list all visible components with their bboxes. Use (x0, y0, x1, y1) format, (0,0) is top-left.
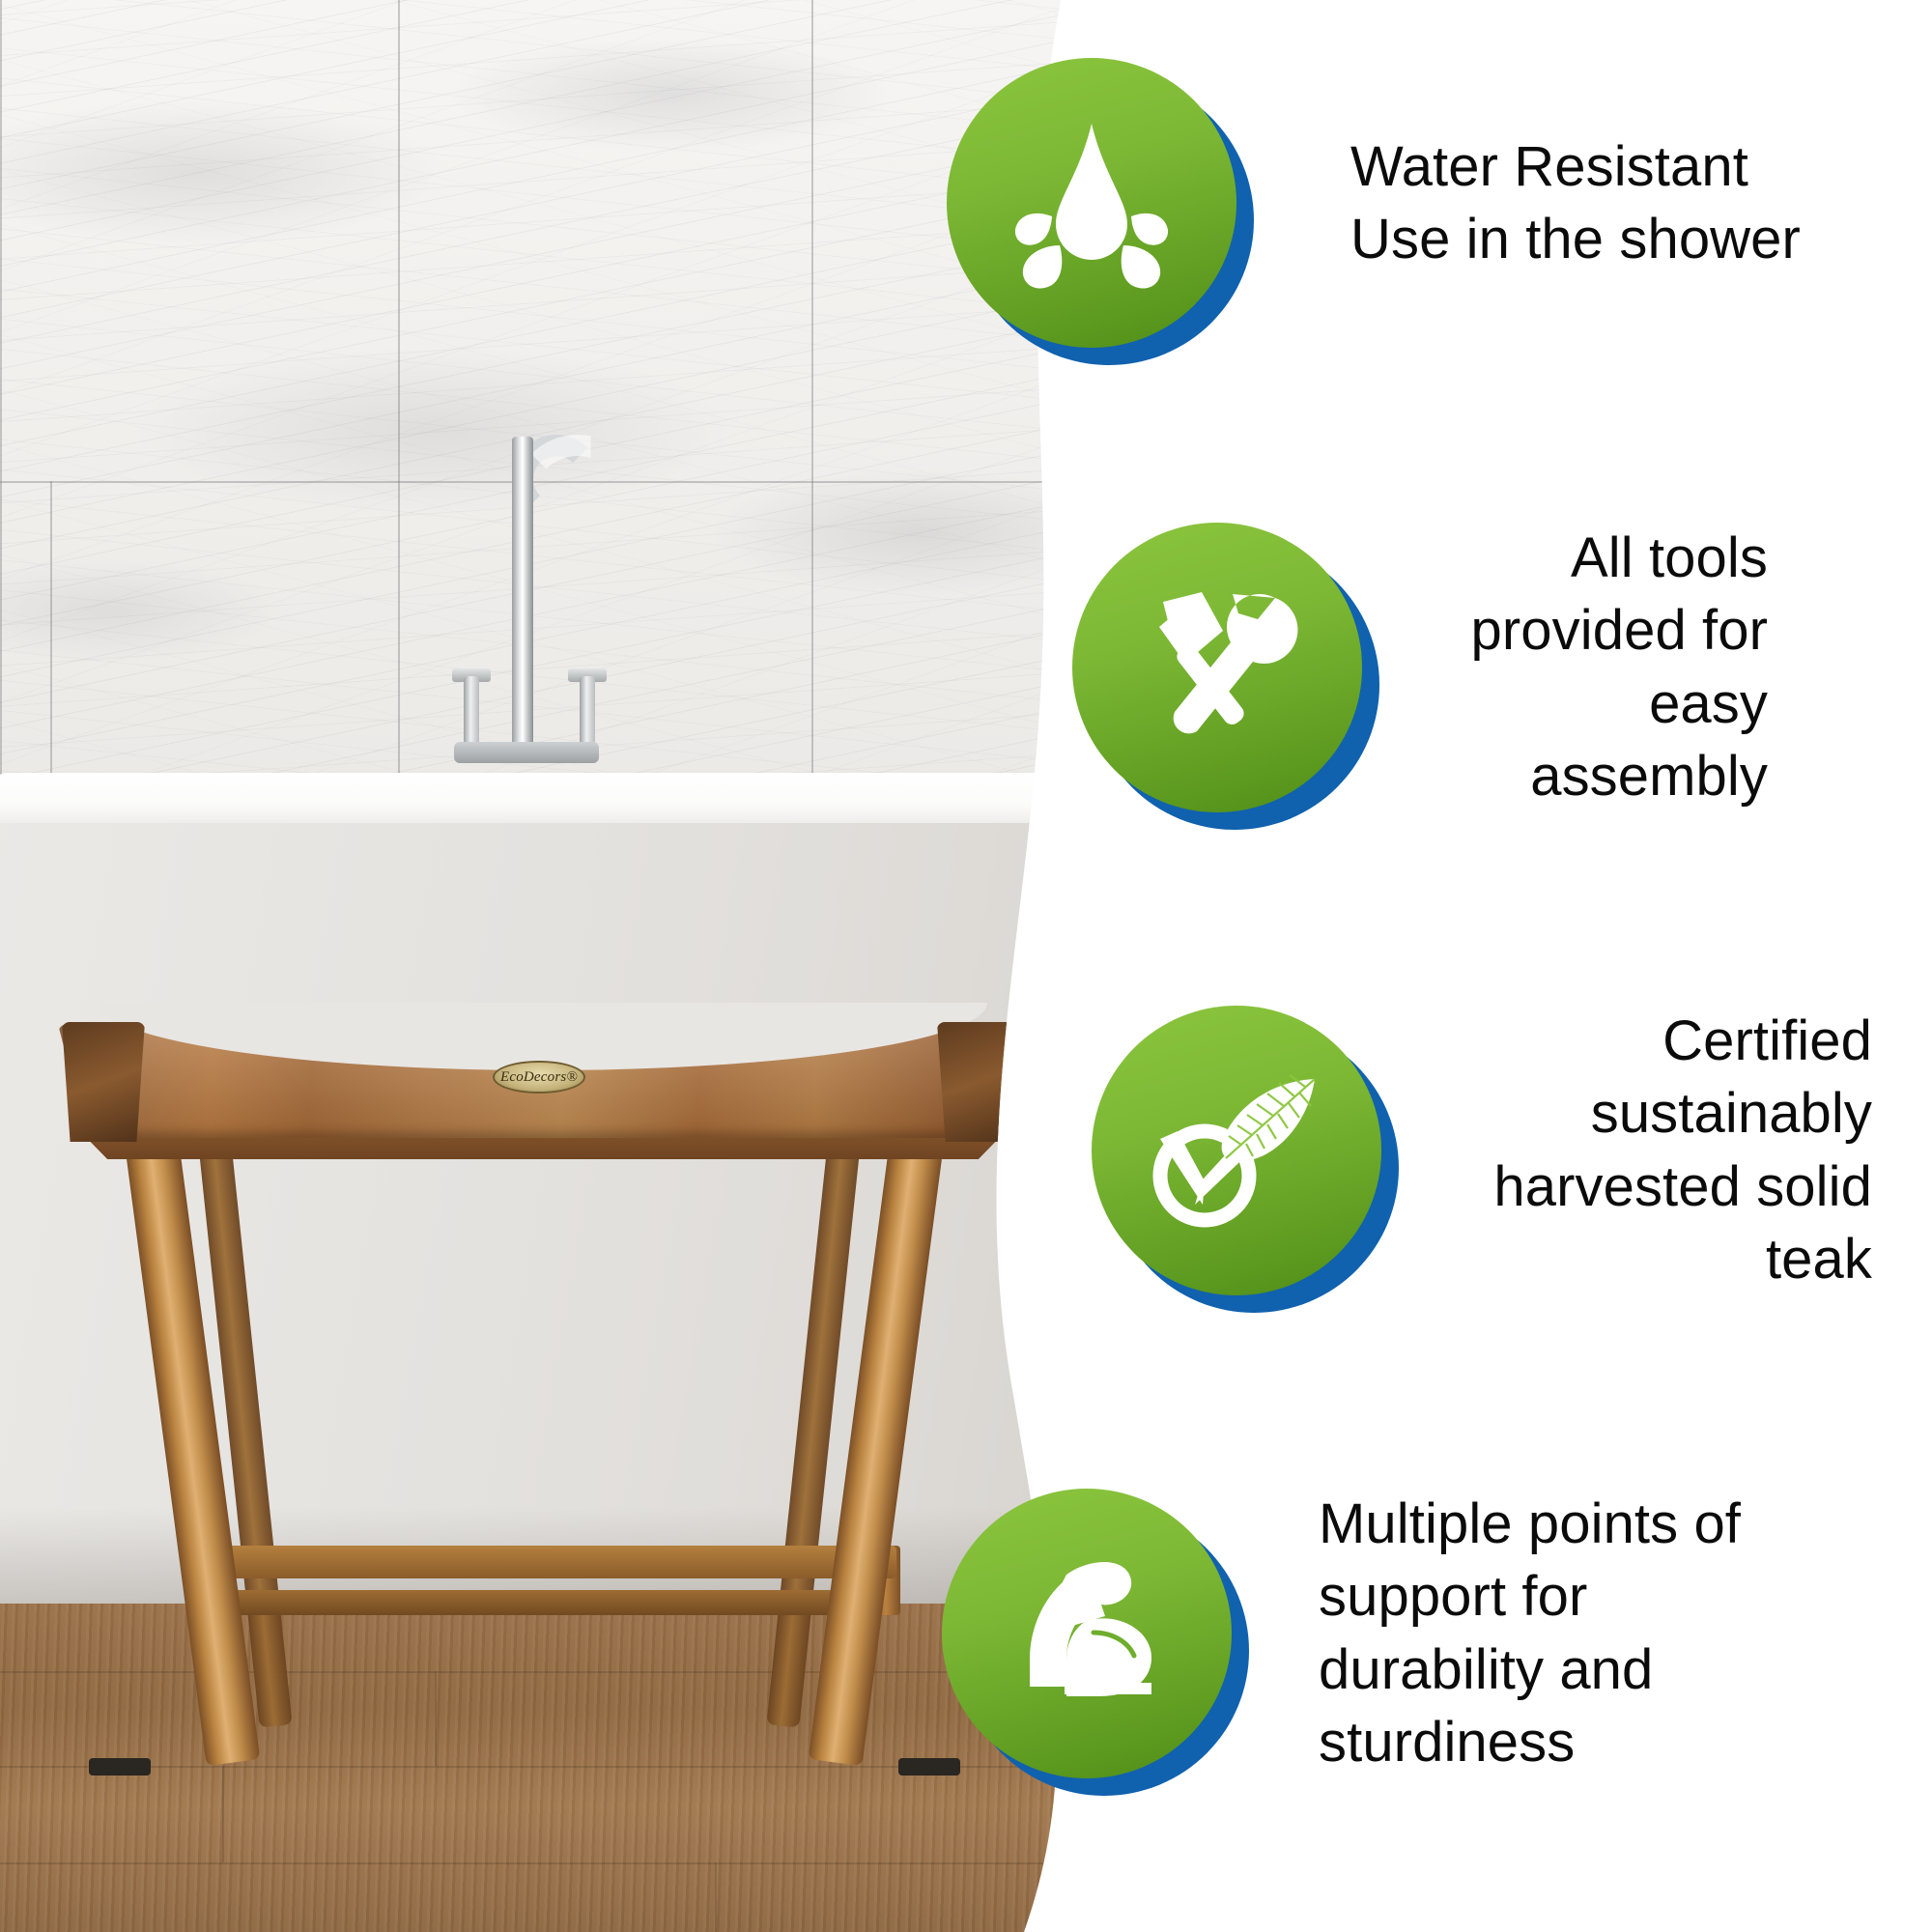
badge-wrapper (1092, 1006, 1381, 1295)
brand-logo-badge: EcoDecors® (493, 1061, 585, 1094)
feature-badge[interactable] (1092, 1006, 1381, 1295)
bench-seat-end-cap (62, 1022, 145, 1142)
teak-shower-bench: EcoDecors® (29, 1005, 1053, 1787)
feature-badge[interactable] (942, 1489, 1232, 1778)
feature-label: Water Resistant Use in the shower (1350, 130, 1814, 276)
feature-tools-included: All tools provided for easy assembly (1072, 522, 1768, 813)
feature-badge[interactable] (1072, 523, 1362, 812)
bench-seat-end-cap (937, 1022, 1020, 1142)
leaf-checkmark-icon (1145, 1064, 1328, 1237)
marble-tile-wall (0, 0, 1082, 782)
feature-label: Multiple points of support for durabilit… (1319, 1488, 1773, 1779)
feature-label: All tools provided for easy assembly (1449, 522, 1768, 813)
feature-badge[interactable] (947, 58, 1236, 348)
feature-sturdy-support: Multiple points of support for durabilit… (942, 1488, 1773, 1779)
tile-grout-line (0, 0, 2, 782)
badge-wrapper (947, 58, 1236, 348)
faucet-spout (512, 437, 533, 751)
product-photo: EcoDecors® (0, 0, 1082, 1932)
bathtub-rim (0, 773, 1082, 831)
tile-grout-line (398, 0, 400, 782)
floor-plank-seam (715, 1862, 717, 1932)
faucet-handle (580, 676, 595, 752)
faucet-handle (464, 676, 479, 752)
feature-sustainable-teak: Certified sustainably harvested solid te… (1092, 1005, 1872, 1296)
bench-stretcher (205, 1590, 881, 1615)
infographic-canvas: EcoDecors® Water Resistant Use in the sh… (0, 0, 1932, 1932)
bench-stretcher (191, 1546, 896, 1578)
tile-grout-line (50, 481, 52, 782)
feature-label: Certified sustainably harvested solid te… (1466, 1005, 1872, 1296)
bench-foot-pad (89, 1758, 151, 1776)
flexed-bicep-icon (1005, 1551, 1169, 1716)
water-droplet-splash-icon (1009, 116, 1174, 290)
hammer-wrench-icon (1130, 581, 1304, 754)
feature-water-resistant: Water Resistant Use in the shower (947, 58, 1814, 348)
marble-veining-secondary (0, 0, 1082, 782)
badge-wrapper (942, 1489, 1232, 1778)
floor-plank-seam (0, 1862, 1082, 1864)
faucet-base (454, 742, 599, 763)
tile-grout-line (811, 0, 813, 782)
badge-wrapper (1072, 523, 1362, 812)
